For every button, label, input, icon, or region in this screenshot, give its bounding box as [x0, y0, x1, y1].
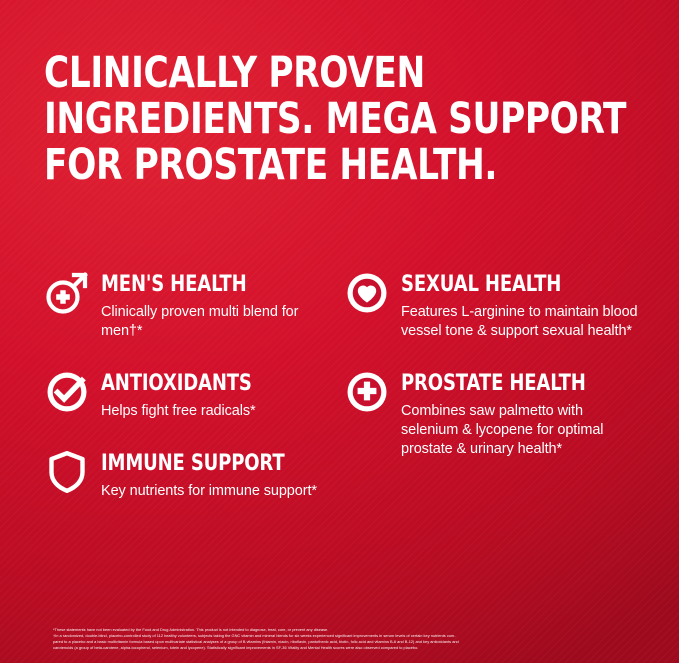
feature-description: Clinically proven multi blend for men†* [101, 303, 312, 341]
feature-body: MEN'S HEALTH Clinically proven multi ble… [101, 268, 312, 341]
feature-body: IMMUNE SUPPORT Key nutrients for immune … [101, 447, 325, 501]
disclaimer-line-4: carotenoids (a group of beta-carotene, a… [53, 645, 631, 651]
headline-line-2: INGREDIENTS. MEGA SUPPORT [44, 96, 652, 142]
feature-body: PROSTATE HEALTH Combines saw palmetto wi… [401, 367, 644, 459]
feature-prostate-health: PROSTATE HEALTH Combines saw palmetto wi… [344, 367, 644, 459]
feature-description: Features L-arginine to maintain blood ve… [401, 303, 644, 341]
heart-circle-icon [344, 270, 390, 316]
feature-antioxidants: ANTIOXIDANTS Helps fight free radicals* [44, 367, 312, 421]
feature-column-left: MEN'S HEALTH Clinically proven multi ble… [44, 268, 312, 527]
medical-cross-circle-icon [344, 369, 390, 415]
feature-title: IMMUNE SUPPORT [101, 453, 284, 475]
feature-description: Combines saw palmetto with selenium & ly… [401, 402, 644, 459]
feature-mens-health: MEN'S HEALTH Clinically proven multi ble… [44, 268, 312, 341]
feature-sexual-health: SEXUAL HEALTH Features L-arginine to mai… [344, 268, 644, 341]
feature-title: PROSTATE HEALTH [401, 373, 600, 395]
check-circle-icon [44, 369, 90, 415]
shield-icon [44, 449, 90, 495]
male-symbol-plus-icon [44, 270, 90, 316]
page-title: CLINICALLY PROVEN INGREDIENTS. MEGA SUPP… [44, 50, 652, 188]
feature-body: ANTIOXIDANTS Helps fight free radicals* [101, 367, 285, 421]
feature-title: ANTIOXIDANTS [101, 373, 252, 395]
headline-line-3: FOR PROSTATE HEALTH. [44, 142, 652, 188]
feature-title: MEN'S HEALTH [101, 274, 274, 296]
feature-description: Helps fight free radicals* [101, 402, 285, 421]
feature-description: Key nutrients for immune support* [101, 482, 325, 501]
legal-disclaimer: *These statements have not been evaluate… [53, 627, 631, 651]
feature-column-right: SEXUAL HEALTH Features L-arginine to mai… [344, 268, 644, 527]
feature-title: SEXUAL HEALTH [401, 274, 600, 296]
feature-immune-support: IMMUNE SUPPORT Key nutrients for immune … [44, 447, 312, 501]
headline-line-1: CLINICALLY PROVEN [44, 50, 652, 96]
promo-poster: CLINICALLY PROVEN INGREDIENTS. MEGA SUPP… [0, 0, 679, 663]
feature-body: SEXUAL HEALTH Features L-arginine to mai… [401, 268, 644, 341]
feature-columns: MEN'S HEALTH Clinically proven multi ble… [44, 268, 644, 527]
